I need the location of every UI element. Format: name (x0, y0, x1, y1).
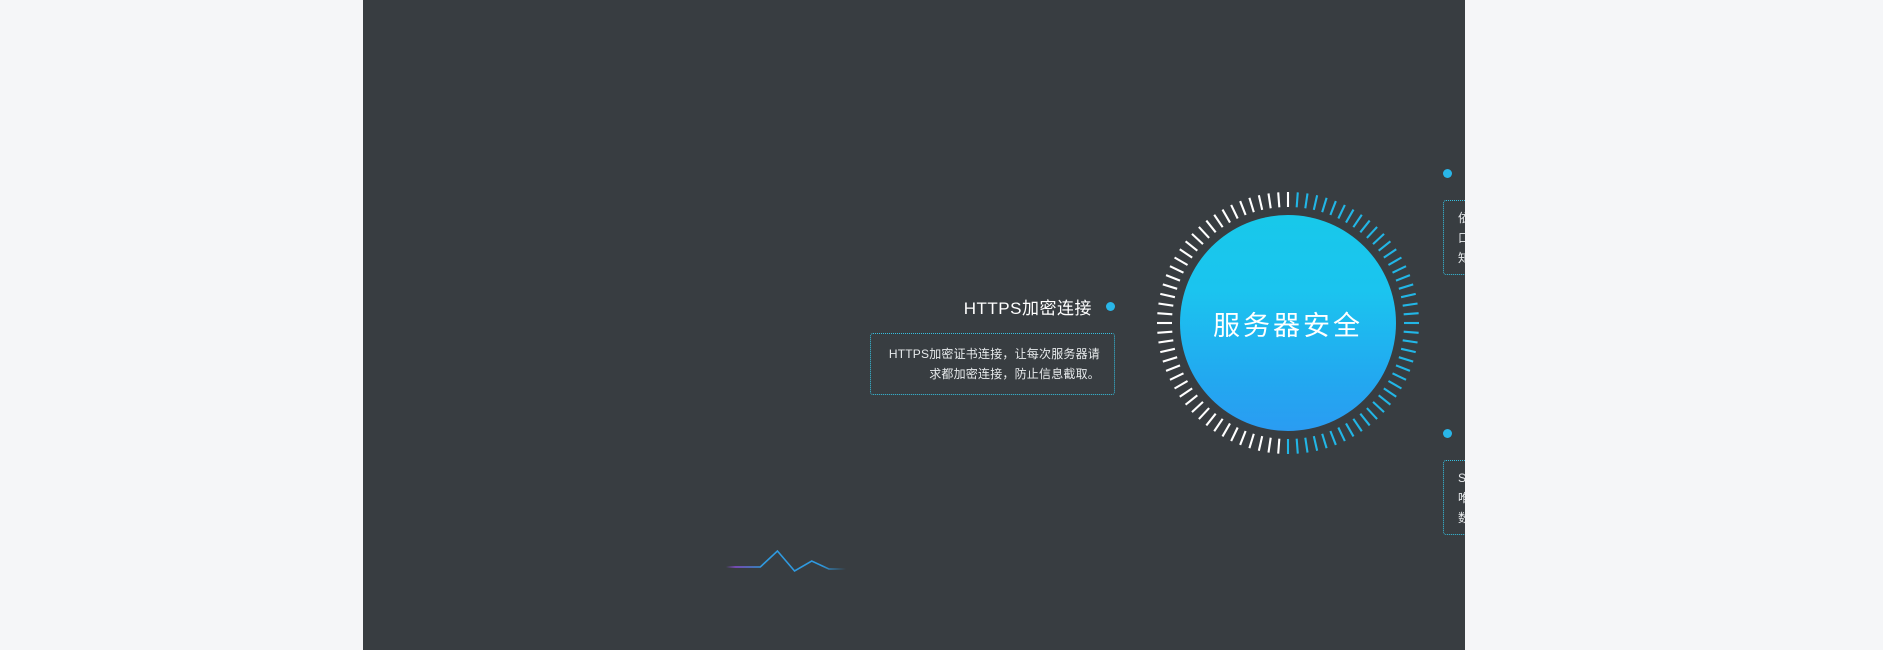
dark-content-panel: 服务器安全 服务器系统安全 依托阿里云自身安全屏障基础防护，端口屏蔽，DDos防… (363, 0, 1465, 650)
feature-description: HTTPS加密证书连接，让每次服务器请求都加密连接，防止信息截取。 (885, 344, 1100, 384)
sparkline-path (726, 551, 846, 571)
feature-header: HTTPS加密连接 (733, 295, 1115, 317)
bullet-dot-icon (1106, 302, 1115, 311)
feature-description-box: SLB连接动态转发。控制服务器连接的唯一入口，且做高度安全防护，将客户数据隔离在… (1443, 460, 1465, 535)
feature-description: SLB连接动态转发。控制服务器连接的唯一入口，且做高度安全防护，将客户数据隔离在… (1458, 468, 1465, 528)
feature-title: HTTPS加密连接 (964, 294, 1092, 319)
feature-slb-intranet-isolation: SLB内网隔离 SLB连接动态转发。控制服务器连接的唯一入口，且做高度安全防护，… (1443, 422, 1465, 535)
decorative-sparkline-chart (726, 505, 846, 585)
dial-core-circle: 服务器安全 (1180, 215, 1396, 431)
dial-core-label: 服务器安全 (1213, 304, 1363, 343)
bullet-dot-icon (1443, 169, 1452, 178)
feature-header: SLB内网隔离 (1443, 422, 1465, 444)
feature-description: 依托阿里云自身安全屏障基础防护，端口屏蔽，DDos防护，先知计划势态感知，安骑士… (1458, 208, 1465, 268)
feature-header: 服务器系统安全 (1443, 162, 1465, 184)
security-dial: 服务器安全 (1143, 178, 1433, 468)
feature-server-system-security: 服务器系统安全 依托阿里云自身安全屏障基础防护，端口屏蔽，DDos防护，先知计划… (1443, 162, 1465, 275)
feature-description-box: 依托阿里云自身安全屏障基础防护，端口屏蔽，DDos防护，先知计划势态感知，安骑士… (1443, 200, 1465, 275)
feature-https-encrypted-connection: HTTPS加密连接 HTTPS加密证书连接，让每次服务器请求都加密连接，防止信息… (733, 295, 1115, 395)
feature-description-box: HTTPS加密证书连接，让每次服务器请求都加密连接，防止信息截取。 (870, 333, 1115, 395)
bullet-dot-icon (1443, 429, 1452, 438)
